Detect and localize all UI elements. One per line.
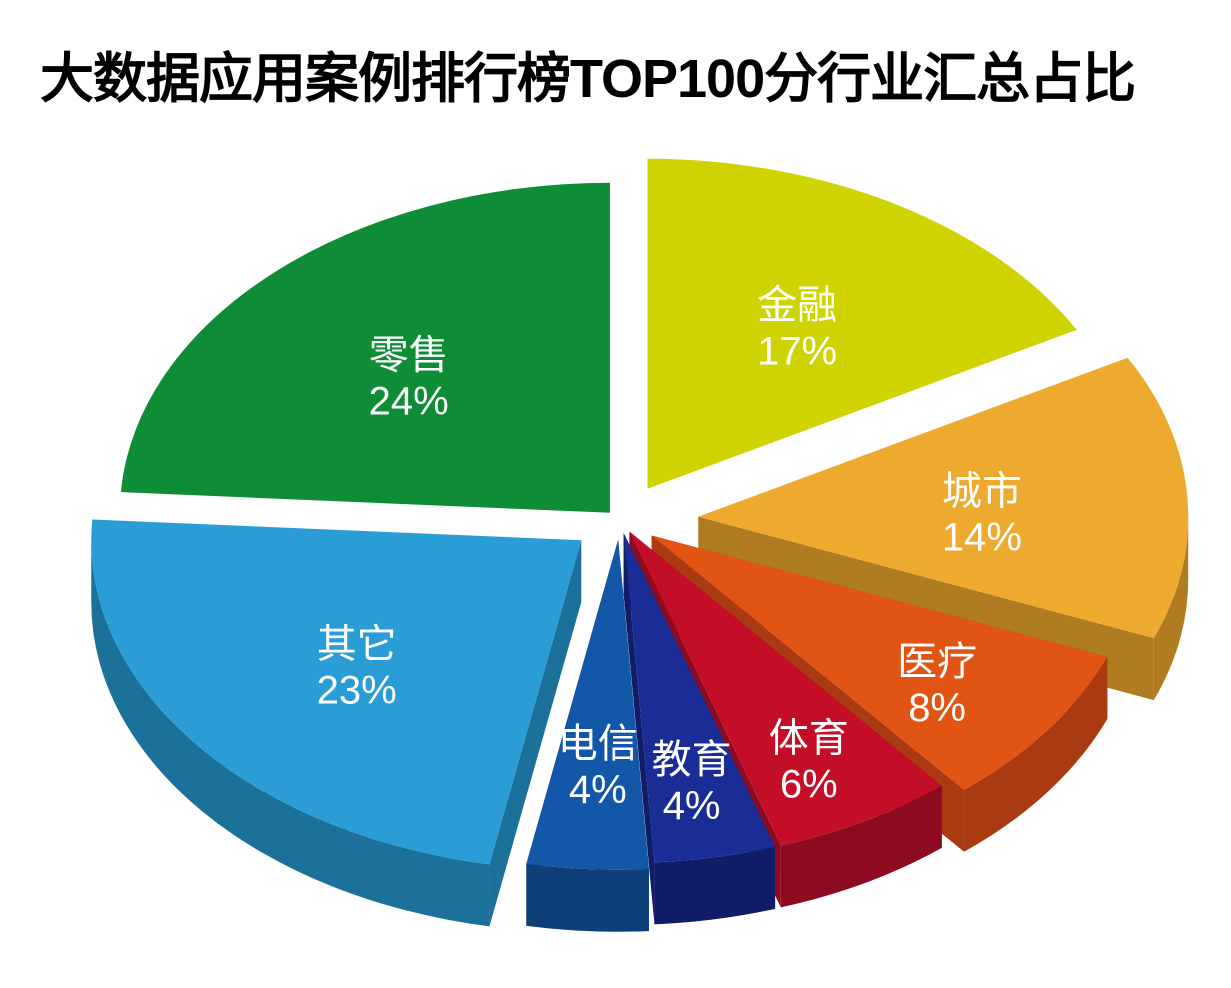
pie-slice-name-医疗: 医疗 xyxy=(897,640,977,684)
pie-slice-name-零售: 零售 xyxy=(369,333,449,377)
pie-slice-name-教育: 教育 xyxy=(652,738,732,782)
pie-chart-svg: 金融17%城市14%医疗8%体育6%教育4%电信4%其它23%零售24% xyxy=(0,120,1231,980)
pie-slice-value-其它: 23% xyxy=(317,669,397,713)
pie-slice-top-零售[interactable] xyxy=(121,183,610,513)
chart-root: 大数据应用案例排行榜TOP100分行业汇总占比 金融17%城市14%医疗8%体育… xyxy=(0,0,1231,988)
pie-top-faces-group xyxy=(91,159,1188,932)
pie-slice-rim-电信 xyxy=(526,864,649,932)
pie-slice-value-体育: 6% xyxy=(780,762,838,806)
pie-slice-name-金融: 金融 xyxy=(757,283,837,327)
pie-slice-value-金融: 17% xyxy=(757,329,837,373)
pie-slice-name-其它: 其它 xyxy=(317,623,397,667)
pie-slice-value-电信: 4% xyxy=(569,768,627,812)
pie-slice-其它[interactable] xyxy=(91,520,581,927)
pie-slice-name-城市: 城市 xyxy=(942,470,1022,514)
pie-slice-value-零售: 24% xyxy=(369,379,449,423)
pie-slice-value-医疗: 8% xyxy=(908,686,966,730)
pie-chart-area: 金融17%城市14%医疗8%体育6%教育4%电信4%其它23%零售24% xyxy=(0,120,1231,980)
pie-slice-value-城市: 14% xyxy=(942,516,1022,560)
page-title: 大数据应用案例排行榜TOP100分行业汇总占比 xyxy=(40,48,1200,110)
pie-slice-name-电信: 电信 xyxy=(558,722,638,766)
pie-slice-name-体育: 体育 xyxy=(769,716,849,760)
pie-slice-value-教育: 4% xyxy=(663,784,721,828)
pie-slice-零售[interactable] xyxy=(121,183,610,513)
